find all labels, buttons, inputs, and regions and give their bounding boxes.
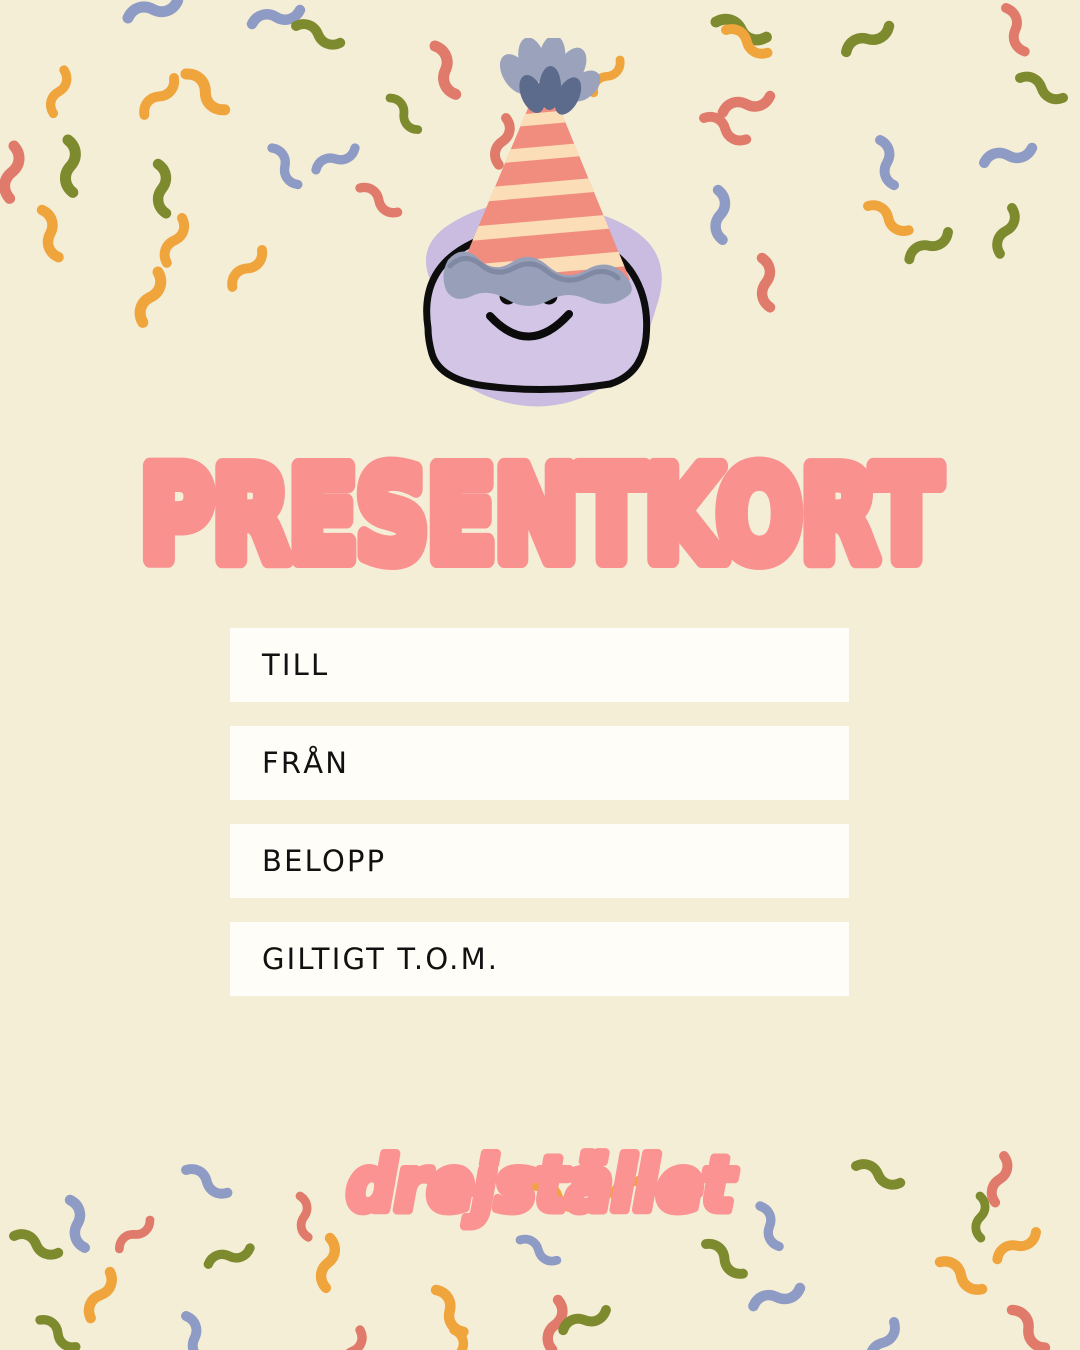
confetti-squiggle (356, 185, 402, 216)
confetti-squiggle (139, 270, 162, 324)
confetti-squiggle (32, 208, 69, 259)
confetti-squiggle (163, 216, 186, 265)
gift-card-fields: TILL FRÅN BELOPP GILTIGT T.O.M. (230, 628, 849, 1020)
field-label-fran: FRÅN (262, 749, 349, 778)
confetti-squiggle (250, 0, 301, 35)
confetti-squiggle (517, 1237, 561, 1264)
confetti-squiggle (176, 1314, 212, 1350)
confetti-squiggle (179, 71, 231, 114)
field-till[interactable]: TILL (230, 628, 849, 702)
confetti-squiggle (751, 257, 781, 309)
confetti-squiggle (35, 1317, 81, 1350)
confetti-squiggle (701, 114, 750, 143)
confetti-squiggle (126, 0, 180, 29)
confetti-squiggle (87, 1269, 114, 1321)
field-fran[interactable]: FRÅN (230, 726, 849, 800)
confetti-squiggle (318, 1238, 337, 1288)
confetti-squiggle (907, 224, 951, 267)
confetti-squiggle (864, 202, 913, 233)
field-giltigt-tom[interactable]: GILTIGT T.O.M. (230, 922, 849, 996)
confetti-squiggle (207, 1239, 252, 1273)
party-hat-blob-character-illustration (398, 38, 688, 423)
confetti-squiggle (561, 1301, 608, 1339)
field-label-till: TILL (262, 651, 329, 680)
confetti-squiggle (314, 140, 357, 178)
confetti-squiggle (997, 6, 1034, 54)
confetti-squiggle (751, 1278, 802, 1316)
confetti-squiggle (1005, 1307, 1053, 1350)
page-title: PRESENTKORT (0, 418, 1080, 578)
confetti-squiggle (714, 18, 768, 41)
confetti-squiggle (722, 26, 771, 56)
confetti-squiggle (1017, 74, 1066, 101)
page-title-text: PRESENTKORT (140, 441, 940, 573)
field-belopp[interactable]: BELOPP (230, 824, 849, 898)
confetti-squiggle (844, 17, 892, 61)
confetti-squiggle (546, 1300, 563, 1350)
confetti-squiggle (721, 86, 772, 123)
confetti-squiggle (870, 138, 904, 187)
party-hat-pompom (493, 38, 606, 119)
brand-logo: drejstället (0, 1126, 1080, 1236)
field-label-belopp: BELOPP (262, 847, 386, 876)
confetti-squiggle (2, 146, 22, 199)
confetti-squiggle (229, 245, 265, 293)
gift-card-canvas: PRESENTKORT TILL FRÅN BELOPP GILTIGT T.O… (0, 0, 1080, 1350)
confetti-squiggle (427, 1287, 472, 1334)
confetti-squiggle (147, 163, 177, 215)
confetti-squiggle (56, 139, 85, 193)
confetti-squiggle (141, 73, 177, 121)
confetti-squiggle (983, 138, 1034, 174)
confetti-squiggle (445, 1328, 478, 1350)
confetti-squiggle (868, 1318, 898, 1350)
confetti-squiggle (294, 22, 343, 46)
field-label-giltigt-tom: GILTIGT T.O.M. (262, 945, 499, 974)
confetti-squiggle (50, 69, 68, 114)
confetti-squiggle (265, 146, 306, 187)
brand-logo-text: drejstället (347, 1141, 737, 1227)
confetti-squiggle (935, 1258, 986, 1292)
confetti-squiggle (996, 207, 1016, 255)
confetti-squiggle (342, 1328, 363, 1350)
confetti-squiggle (707, 189, 734, 241)
confetti-squiggle (701, 1241, 749, 1277)
